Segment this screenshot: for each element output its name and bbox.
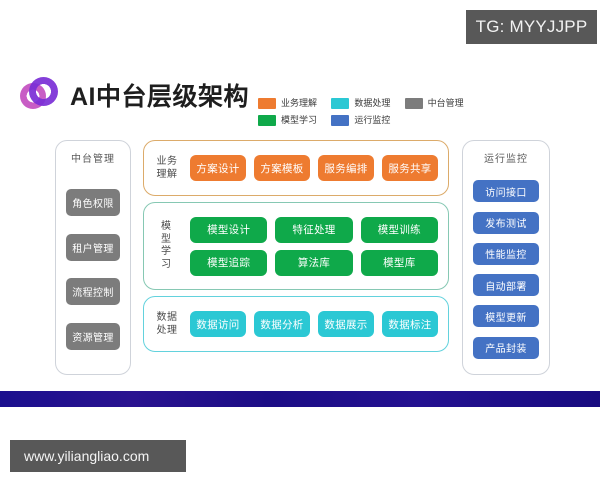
site-watermark-badge: www.yiliangliao.com	[10, 440, 186, 472]
section-items-business-understanding: 方案设计方案模板服务编排服务共享	[190, 155, 448, 181]
runtime-monitoring-item[interactable]: 模型更新	[473, 305, 539, 327]
section-label-business-understanding: 业务理解	[144, 155, 190, 182]
section-item-tile[interactable]: 数据标注	[382, 311, 438, 337]
column-title-platform-management: 中台管理	[71, 150, 115, 165]
platform-management-item[interactable]: 资源管理	[66, 323, 120, 350]
legend-swatch-icon	[331, 115, 349, 126]
section-item-tile[interactable]: 数据分析	[254, 311, 310, 337]
legend: 业务理解数据处理中台管理模型学习运行监控	[258, 98, 468, 126]
platform-management-item[interactable]: 流程控制	[66, 278, 120, 305]
section-item-tile[interactable]: 服务共享	[382, 155, 438, 181]
center-sections: 业务理解 方案设计方案模板服务编排服务共享 模型学习 模型设计特征处理模型训练模…	[143, 140, 449, 375]
section-item-tile[interactable]: 算法库	[275, 250, 352, 276]
section-item-tile[interactable]: 方案设计	[190, 155, 246, 181]
section-label-model-learning: 模型学习	[144, 221, 190, 271]
runtime-monitoring-item[interactable]: 自动部署	[473, 274, 539, 296]
section-label-data-processing: 数据处理	[144, 311, 190, 338]
ai-platform-logo-icon	[20, 77, 64, 115]
platform-management-item[interactable]: 租户管理	[66, 234, 120, 261]
legend-item-label: 模型学习	[281, 116, 317, 125]
runtime-monitoring-item[interactable]: 产品封装	[473, 337, 539, 359]
column-platform-management: 中台管理 角色权限租户管理流程控制资源管理	[55, 140, 131, 375]
legend-item-label: 数据处理	[354, 99, 390, 108]
page-title: AI中台层级架构	[70, 77, 249, 113]
runtime-monitoring-item[interactable]: 性能监控	[473, 243, 539, 265]
section-label-char: 模	[144, 221, 190, 234]
tg-watermark-badge: TG: MYYJJPP	[466, 10, 597, 44]
section-item-tile[interactable]: 数据展示	[318, 311, 374, 337]
section-item-tile[interactable]: 方案模板	[254, 155, 310, 181]
column-title-runtime-monitoring: 运行监控	[484, 150, 528, 165]
section-items-model-learning: 模型设计特征处理模型训练模型追踪算法库模型库	[190, 217, 448, 276]
site-watermark-text: www.yiliangliao.com	[24, 448, 149, 464]
section-label-line: 业务	[144, 155, 190, 169]
legend-item-label: 中台管理	[428, 99, 464, 108]
section-items-data-processing: 数据访问数据分析数据展示数据标注	[190, 311, 448, 337]
tg-watermark-text: TG: MYYJJPP	[476, 17, 588, 37]
legend-item: 业务理解	[258, 98, 321, 109]
legend-swatch-icon	[331, 98, 349, 109]
platform-management-items: 角色权限租户管理流程控制资源管理	[56, 171, 130, 374]
platform-management-item[interactable]: 角色权限	[66, 189, 120, 216]
section-item-tile[interactable]: 服务编排	[318, 155, 374, 181]
section-item-tile[interactable]: 数据访问	[190, 311, 246, 337]
section-label-line: 处理	[144, 324, 190, 338]
section-data-processing: 数据处理 数据访问数据分析数据展示数据标注	[143, 296, 449, 352]
legend-item: 模型学习	[258, 115, 321, 126]
legend-swatch-icon	[258, 115, 276, 126]
section-item-tile[interactable]: 模型设计	[190, 217, 267, 243]
runtime-monitoring-items: 访问接口发布测试性能监控自动部署模型更新产品封装	[463, 171, 549, 374]
section-item-tile[interactable]: 模型追踪	[190, 250, 267, 276]
section-label-char: 型	[144, 234, 190, 247]
diagram-card: AI中台层级架构 业务理解数据处理中台管理模型学习运行监控 中台管理 角色权限租…	[0, 55, 600, 391]
bottom-navy-band	[0, 391, 600, 407]
runtime-monitoring-item[interactable]: 发布测试	[473, 212, 539, 234]
section-label-line: 数据	[144, 311, 190, 325]
section-business-understanding: 业务理解 方案设计方案模板服务编排服务共享	[143, 140, 449, 196]
legend-swatch-icon	[258, 98, 276, 109]
runtime-monitoring-item[interactable]: 访问接口	[473, 180, 539, 202]
diagram-body: 中台管理 角色权限租户管理流程控制资源管理 业务理解 方案设计方案模板服务编排服…	[0, 140, 600, 380]
logo-ring-purple	[29, 77, 58, 106]
section-model-learning: 模型学习 模型设计特征处理模型训练模型追踪算法库模型库	[143, 202, 449, 290]
section-label-char: 习	[144, 259, 190, 272]
legend-item: 数据处理	[331, 98, 394, 109]
legend-item: 运行监控	[331, 115, 394, 126]
legend-swatch-icon	[405, 98, 423, 109]
section-item-tile[interactable]: 模型训练	[361, 217, 438, 243]
section-item-tile[interactable]: 特征处理	[275, 217, 352, 243]
section-item-tile[interactable]: 模型库	[361, 250, 438, 276]
section-label-line: 理解	[144, 168, 190, 182]
legend-item: 中台管理	[405, 98, 468, 109]
legend-item-label: 业务理解	[281, 99, 317, 108]
column-runtime-monitoring: 运行监控 访问接口发布测试性能监控自动部署模型更新产品封装	[462, 140, 550, 375]
legend-item-label: 运行监控	[354, 116, 390, 125]
diagram-header: AI中台层级架构 业务理解数据处理中台管理模型学习运行监控	[0, 55, 600, 127]
section-label-char: 学	[144, 246, 190, 259]
